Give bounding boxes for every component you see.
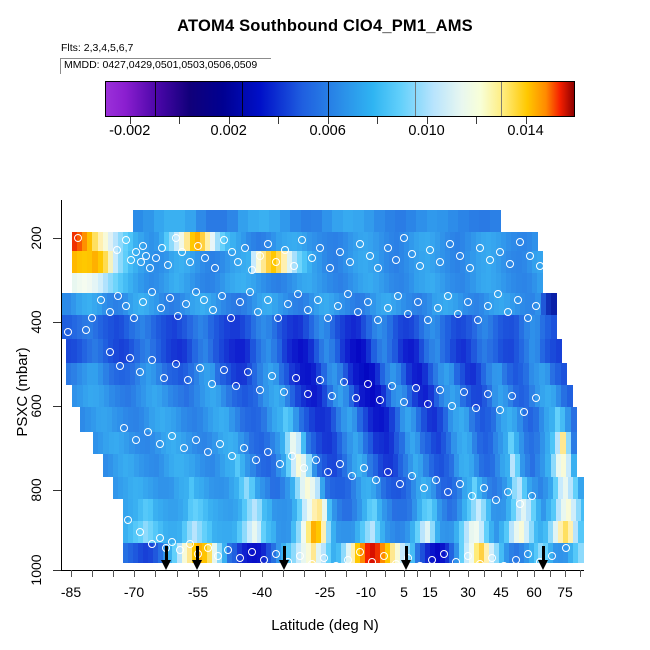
sample-marker <box>474 316 482 324</box>
flights-annotation: Flts: 2,3,4,5,6,7 <box>61 42 133 54</box>
sample-marker <box>148 540 156 548</box>
sample-marker <box>528 492 536 500</box>
sample-marker <box>526 252 534 260</box>
sample-marker <box>288 452 296 460</box>
sample-marker <box>204 544 212 552</box>
sample-marker <box>227 314 235 322</box>
heatmap-panel <box>61 200 584 570</box>
sample-marker <box>504 308 512 316</box>
x-axis-tick <box>404 570 405 577</box>
sample-marker <box>336 248 344 256</box>
x-axis-line <box>61 570 584 571</box>
y-axis-tick <box>53 570 61 571</box>
x-axis-tick <box>219 570 220 577</box>
plot-root: ATOM4 Southbound ClO4_PM1_AMS Flts: 2,3,… <box>0 0 650 650</box>
sample-marker <box>284 300 292 308</box>
x-axis-tick <box>177 570 178 577</box>
sample-marker <box>334 302 342 310</box>
sample-marker <box>356 548 364 556</box>
sample-marker <box>292 374 300 382</box>
colorbar-gradient <box>105 81 575 117</box>
sample-marker <box>496 406 504 414</box>
sample-marker <box>166 294 174 302</box>
sample-marker <box>544 246 552 254</box>
profile-arrow <box>401 546 411 570</box>
sample-marker <box>192 436 200 444</box>
y-axis-title: PSXC (mbar) <box>14 347 31 436</box>
x-axis-tick-label: -25 <box>315 584 335 600</box>
profile-arrow <box>192 546 202 570</box>
sample-marker <box>274 314 282 322</box>
x-axis-tick-label: 5 <box>400 584 408 600</box>
sample-marker <box>127 256 135 264</box>
sample-marker <box>562 544 570 552</box>
sample-marker <box>414 298 422 306</box>
sample-marker <box>316 376 324 384</box>
mmdd-annotation: MMDD: 0427,0429,0501,0503,0506,0509 <box>64 59 257 71</box>
y-axis-tick-label: 1000 <box>28 554 44 585</box>
sample-marker <box>356 240 364 248</box>
x-axis-tick <box>580 570 581 577</box>
sample-marker <box>340 378 348 386</box>
x-axis-tick <box>240 570 241 577</box>
sample-marker <box>476 560 484 568</box>
x-axis-tick <box>449 570 450 577</box>
sample-marker <box>316 244 324 252</box>
x-axis-tick <box>198 570 199 577</box>
sample-marker <box>444 488 452 496</box>
y-axis-tick <box>53 406 61 407</box>
sample-marker <box>436 386 444 394</box>
sample-marker <box>326 264 334 272</box>
sample-marker <box>246 288 254 296</box>
sample-marker <box>484 302 492 310</box>
sample-marker <box>164 261 172 269</box>
sample-marker <box>346 258 354 266</box>
x-axis-tick <box>283 570 284 577</box>
sample-marker <box>400 234 408 242</box>
sample-marker <box>374 264 382 272</box>
sample-marker <box>304 390 312 398</box>
x-axis-tick <box>92 570 93 577</box>
sample-marker <box>500 562 508 570</box>
sample-marker <box>240 444 248 452</box>
sample-marker <box>228 248 236 256</box>
sample-marker <box>146 264 154 272</box>
sample-marker <box>336 460 344 468</box>
sample-marker <box>300 464 308 472</box>
sample-marker <box>368 558 376 566</box>
sample-marker <box>412 384 420 392</box>
x-axis-tick <box>501 570 502 577</box>
sample-marker <box>214 552 222 560</box>
sample-marker <box>506 260 514 268</box>
sample-marker <box>144 428 152 436</box>
x-axis-tick <box>517 570 518 577</box>
x-axis-tick <box>346 570 347 577</box>
x-axis-tick <box>417 570 418 577</box>
sample-marker <box>172 234 180 242</box>
x-axis-tick-label: -55 <box>188 584 208 600</box>
sample-marker <box>324 468 332 476</box>
sample-marker <box>82 326 90 334</box>
sample-marker <box>494 290 502 298</box>
sample-marker <box>484 390 492 398</box>
sample-marker <box>272 258 280 266</box>
y-axis-tick-label: 200 <box>28 226 44 249</box>
sample-marker <box>364 298 372 306</box>
sample-marker <box>420 484 428 492</box>
x-axis-tick <box>565 570 566 577</box>
sample-marker <box>260 556 268 564</box>
sample-marker <box>464 298 472 306</box>
sample-marker <box>124 516 132 524</box>
sample-marker <box>424 400 432 408</box>
sample-marker <box>244 368 252 376</box>
sample-marker <box>160 374 168 382</box>
sample-marker <box>106 308 114 316</box>
sample-marker <box>296 552 304 560</box>
x-axis-tick <box>534 570 535 577</box>
sample-marker <box>174 312 182 320</box>
x-axis-tick <box>71 570 72 577</box>
sample-marker <box>106 348 114 356</box>
colorbar-separator <box>328 82 329 116</box>
sample-marker <box>156 534 164 542</box>
x-axis-tick <box>325 570 326 577</box>
sample-marker <box>532 394 540 402</box>
sample-marker <box>524 314 532 322</box>
x-axis-tick <box>385 570 386 577</box>
profile-arrow <box>279 546 289 570</box>
sample-marker <box>508 392 516 400</box>
sample-marker <box>139 298 147 306</box>
colorbar-separator <box>155 82 156 116</box>
sample-marker <box>236 298 244 306</box>
sample-marker <box>176 546 184 554</box>
sample-marker <box>428 556 436 564</box>
sample-marker <box>476 244 484 252</box>
sample-marker <box>241 244 249 252</box>
sample-marker <box>504 488 512 496</box>
sample-marker <box>384 468 392 476</box>
sample-marker <box>492 496 500 504</box>
x-axis-tick-label: 15 <box>422 584 438 600</box>
sample-marker <box>396 480 404 488</box>
sample-marker <box>308 254 316 262</box>
colorbar <box>105 81 575 117</box>
sample-marker <box>113 246 121 254</box>
sample-marker <box>194 242 202 250</box>
sample-marker <box>344 556 352 564</box>
sample-marker <box>186 258 194 266</box>
sample-marker <box>372 476 380 484</box>
sample-marker <box>281 246 289 254</box>
sample-marker <box>97 296 105 304</box>
sample-marker <box>456 480 464 488</box>
x-axis-tick-label: 60 <box>526 584 542 600</box>
sample-marker <box>304 306 312 314</box>
x-axis-tick-label: 75 <box>557 584 573 600</box>
sample-marker <box>211 264 219 272</box>
x-axis-tick <box>304 570 305 577</box>
sample-marker <box>404 310 412 318</box>
sample-marker <box>157 304 165 312</box>
sample-marker <box>216 440 224 448</box>
sample-marker <box>228 452 236 460</box>
sample-marker <box>366 252 374 260</box>
sample-marker <box>254 308 262 316</box>
sample-marker <box>172 360 180 368</box>
sample-marker <box>472 404 480 412</box>
sample-marker <box>218 292 226 300</box>
sample-marker <box>192 288 200 296</box>
profile-arrow <box>538 546 548 570</box>
sample-marker <box>400 398 408 406</box>
y-axis-line <box>61 200 62 570</box>
colorbar-tick-label: 0.006 <box>309 123 345 139</box>
sample-marker <box>152 254 160 262</box>
sample-marker <box>122 302 130 310</box>
x-axis-tick <box>484 570 485 577</box>
colorbar-gradient-fill <box>106 82 574 116</box>
sample-marker <box>64 328 72 336</box>
sample-marker <box>178 248 186 256</box>
sample-marker <box>232 382 240 390</box>
sample-marker <box>236 554 244 562</box>
page-title: ATOM4 Southbound ClO4_PM1_AMS <box>0 17 650 36</box>
sample-marker <box>298 236 306 244</box>
sample-marker <box>374 316 382 324</box>
sample-marker <box>394 292 402 300</box>
colorbar-separator <box>242 82 243 116</box>
sample-marker <box>280 388 288 396</box>
sample-marker <box>252 456 260 464</box>
sample-marker <box>324 314 332 322</box>
sample-marker <box>364 380 372 388</box>
y-axis-tick <box>53 322 61 323</box>
sample-marker <box>180 444 188 452</box>
sample-marker <box>354 308 362 316</box>
sample-marker <box>520 408 528 416</box>
sample-marker <box>388 382 396 390</box>
sample-marker <box>182 300 190 308</box>
sample-marker <box>488 554 496 562</box>
sample-marker <box>548 552 556 560</box>
x-axis-tick <box>430 570 431 577</box>
x-axis-tick <box>366 570 367 577</box>
sample-marker <box>496 248 504 256</box>
sample-marker <box>448 402 456 410</box>
sample-marker <box>464 552 472 560</box>
sample-marker <box>466 264 474 272</box>
sample-marker <box>516 500 524 508</box>
colorbar-tick-label: 0.014 <box>507 123 543 139</box>
sample-marker <box>264 448 272 456</box>
sample-marker <box>536 262 544 270</box>
sample-marker <box>440 550 448 558</box>
sample-marker <box>360 464 368 472</box>
x-axis-tick <box>113 570 114 577</box>
sample-marker <box>136 368 144 376</box>
sample-marker <box>294 290 302 298</box>
sample-marker <box>446 240 454 248</box>
sample-marker <box>426 246 434 254</box>
sample-marker <box>352 394 360 402</box>
sample-marker <box>416 562 424 570</box>
sample-marker <box>524 550 532 558</box>
sample-marker <box>454 310 462 318</box>
y-axis-tick <box>53 490 61 491</box>
sample-marker <box>344 290 352 298</box>
sample-marker <box>416 262 424 270</box>
sample-marker <box>120 424 128 432</box>
x-axis-tick-label: -70 <box>124 584 144 600</box>
colorbar-separator <box>415 82 416 116</box>
sample-marker <box>408 472 416 480</box>
x-axis-tick-label: -40 <box>252 584 272 600</box>
sample-marker <box>196 364 204 372</box>
colorbar-tick-label: -0.002 <box>109 123 150 139</box>
colorbar-tick-label: 0.002 <box>211 123 247 139</box>
sample-marker <box>320 554 328 562</box>
sample-marker <box>452 558 460 566</box>
x-axis-title: Latitude (deg N) <box>0 617 650 634</box>
sample-marker <box>126 354 134 362</box>
sample-marker <box>384 244 392 252</box>
sample-marker <box>328 392 336 400</box>
sample-marker <box>132 248 140 256</box>
sample-marker <box>158 244 166 252</box>
sample-marker <box>312 456 320 464</box>
sample-marker <box>204 448 212 456</box>
sample-marker <box>434 304 442 312</box>
sample-marker <box>460 388 468 396</box>
sample-marker <box>468 492 476 500</box>
sample-marker <box>348 472 356 480</box>
sample-marker <box>264 240 272 248</box>
sample-marker <box>480 484 488 492</box>
profile-arrow <box>161 546 171 570</box>
sample-marker <box>200 296 208 304</box>
sample-marker <box>148 356 156 364</box>
sample-marker <box>74 234 82 242</box>
x-axis-tick <box>134 570 135 577</box>
colorbar-separator <box>501 82 502 116</box>
sample-marker <box>122 236 130 244</box>
sample-marker <box>220 366 228 374</box>
sample-marker <box>248 266 256 274</box>
x-axis-tick-label: -85 <box>61 584 81 600</box>
sample-marker <box>380 552 388 560</box>
sample-marker <box>424 316 432 324</box>
sample-marker <box>136 528 144 536</box>
x-axis-tick-label: 45 <box>493 584 509 600</box>
sample-marker <box>532 302 540 310</box>
sample-marker <box>512 556 520 564</box>
sample-marker <box>332 562 340 570</box>
sample-marker <box>88 314 96 322</box>
sample-marker <box>201 254 209 262</box>
y-axis-tick-label: 800 <box>28 478 44 501</box>
sample-marker <box>130 314 138 322</box>
sample-marker <box>456 252 464 260</box>
sample-marker <box>156 440 164 448</box>
sample-marker <box>209 306 217 314</box>
sample-marker <box>276 460 284 468</box>
sample-marker <box>264 296 272 304</box>
sample-markers <box>61 200 584 570</box>
sample-marker <box>142 252 150 260</box>
sample-marker <box>486 256 494 264</box>
x-axis-tick <box>262 570 263 577</box>
y-axis-tick <box>53 238 61 239</box>
y-axis-tick-label: 400 <box>28 310 44 333</box>
sample-marker <box>220 236 228 244</box>
sample-marker <box>290 262 298 270</box>
sample-marker <box>308 560 316 568</box>
sample-marker <box>256 386 264 394</box>
x-axis-tick-label: 30 <box>460 584 476 600</box>
sample-marker <box>116 362 124 370</box>
sample-marker <box>392 560 400 568</box>
sample-marker <box>248 548 256 556</box>
x-axis-tick <box>155 570 156 577</box>
sample-marker <box>184 376 192 384</box>
sample-marker <box>139 242 147 250</box>
sample-marker <box>516 238 524 246</box>
sample-marker <box>432 476 440 484</box>
x-axis-tick <box>468 570 469 577</box>
sample-marker <box>392 256 400 264</box>
sample-marker <box>514 296 522 304</box>
sample-marker <box>114 292 122 300</box>
sample-marker <box>444 292 452 300</box>
sample-marker <box>224 546 232 554</box>
sample-marker <box>208 380 216 388</box>
sample-marker <box>408 250 416 258</box>
sample-marker <box>148 288 156 296</box>
sample-marker <box>168 538 176 546</box>
sample-marker <box>384 304 392 312</box>
x-axis-tick <box>550 570 551 577</box>
sample-marker <box>132 436 140 444</box>
sample-marker <box>314 296 322 304</box>
sample-marker <box>376 396 384 404</box>
sample-marker <box>268 372 276 380</box>
colorbar-tick-label: 0.010 <box>408 123 444 139</box>
sample-marker <box>436 258 444 266</box>
colorbar-tick-labels: -0.0020.0020.0060.0100.014 <box>0 123 650 141</box>
sample-marker <box>168 432 176 440</box>
sample-marker <box>256 252 264 260</box>
sample-marker <box>234 258 242 266</box>
x-axis-tick-label: -10 <box>356 584 376 600</box>
